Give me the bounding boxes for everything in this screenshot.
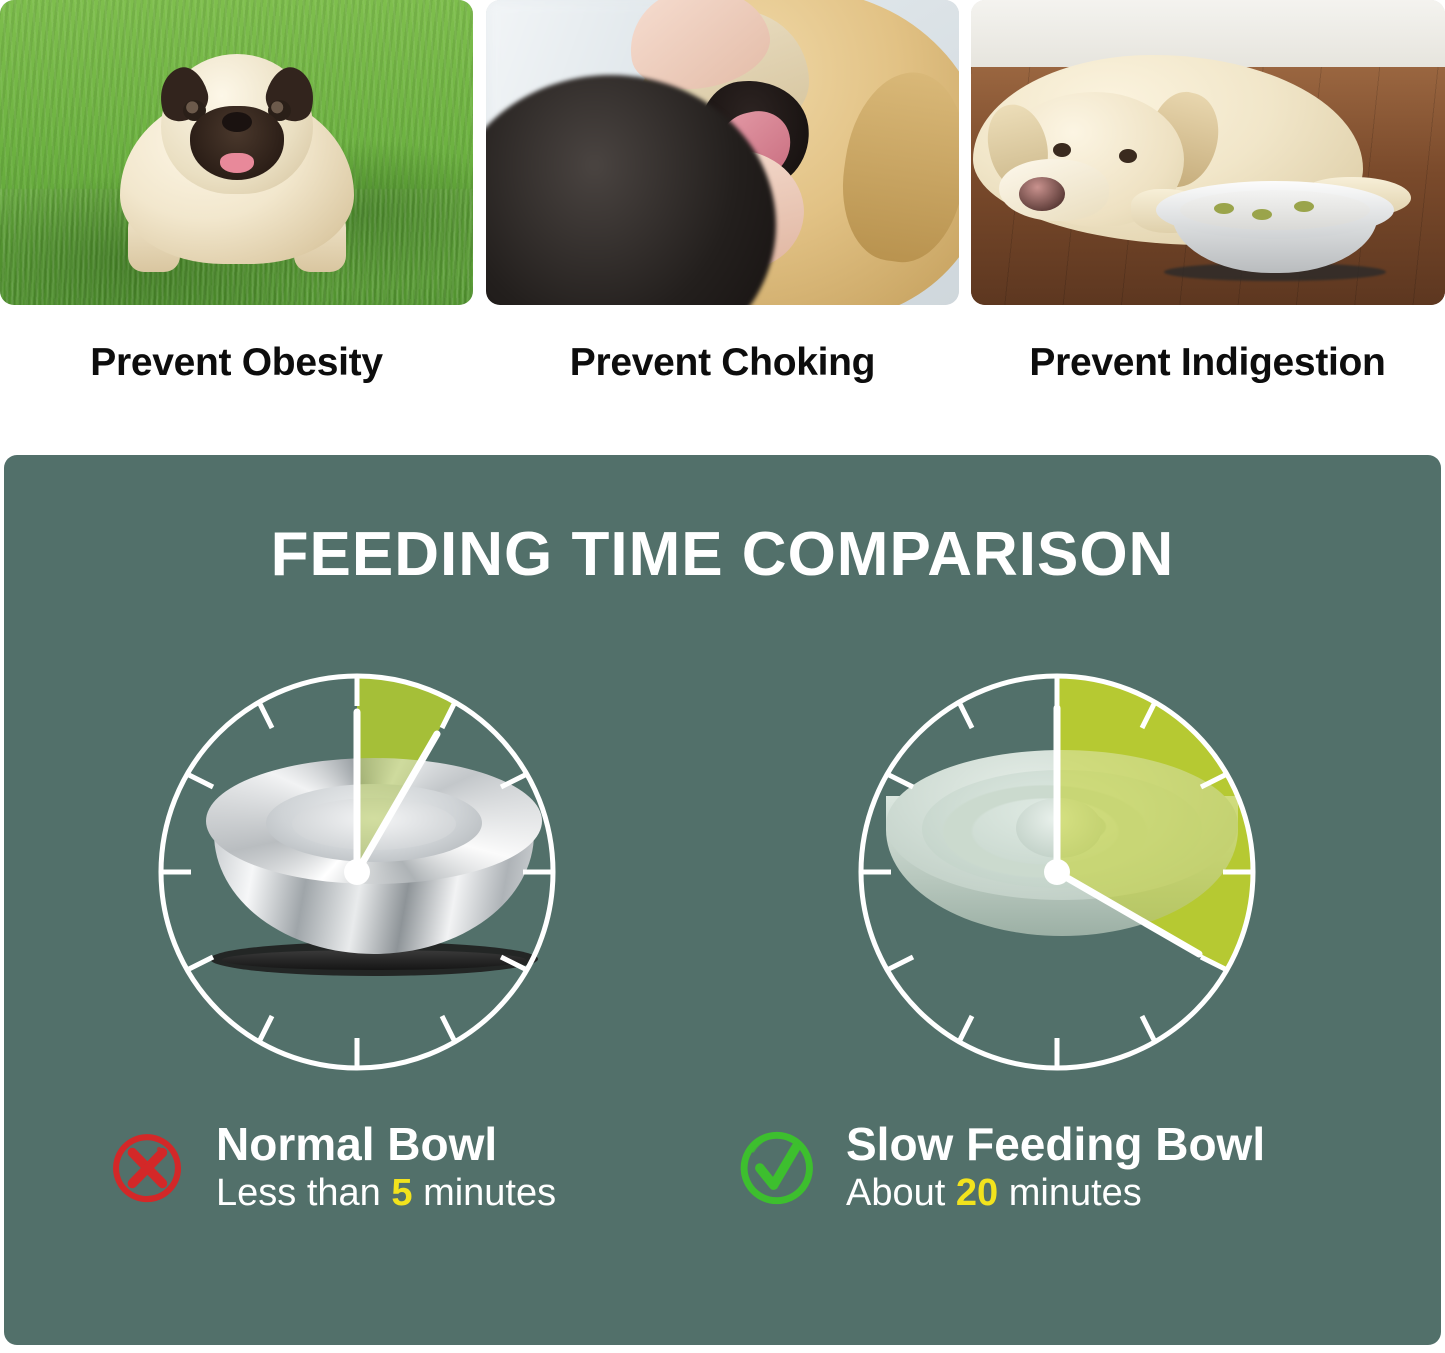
result-normal-bowl: Normal Bowl Less than 5 minutes <box>104 1120 556 1215</box>
result-subtitle: Less than 5 minutes <box>216 1172 556 1216</box>
benefits-strip: Prevent Obesity Prevent Choking <box>0 0 1445 440</box>
benefit-caption: Prevent Indigestion <box>971 341 1444 385</box>
clock-overlay-slow <box>842 650 1282 1100</box>
clock-overlay-normal <box>154 650 594 1100</box>
benefit-photo-prevent-choking <box>486 0 959 305</box>
comparison-results: Normal Bowl Less than 5 minutes Slow Fee… <box>4 1120 1441 1320</box>
result-sub-prefix: About <box>846 1172 945 1214</box>
result-sub-suffix: minutes <box>423 1172 556 1214</box>
x-mark-icon <box>104 1125 190 1211</box>
clock-center-hub <box>344 859 370 885</box>
result-sub-value: 20 <box>956 1172 998 1214</box>
pug-illustration <box>112 44 362 274</box>
clock-center-hub <box>1044 859 1070 885</box>
page-title: FEEDING TIME COMPARISON <box>4 455 1441 590</box>
result-slow-feeding-bowl: Slow Feeding Bowl About 20 minutes <box>734 1120 1265 1215</box>
result-sub-suffix: minutes <box>1009 1172 1142 1214</box>
benefit-photo-prevent-obesity <box>0 0 473 305</box>
clock-slow-feeding-bowl <box>842 650 1282 1100</box>
clock-comparison-row <box>4 650 1441 1100</box>
benefit-caption: Prevent Choking <box>486 341 959 385</box>
result-sub-value: 5 <box>391 1172 412 1214</box>
benefit-photo-prevent-indigestion <box>971 0 1445 305</box>
benefit-card-prevent-indigestion: Prevent Indigestion <box>971 0 1444 385</box>
benefit-card-prevent-choking: Prevent Choking <box>486 0 959 385</box>
result-subtitle: About 20 minutes <box>846 1172 1265 1216</box>
benefit-card-prevent-obesity: Prevent Obesity <box>0 0 473 385</box>
clock-normal-bowl <box>154 650 594 1100</box>
feeding-time-comparison-panel: FEEDING TIME COMPARISON <box>4 455 1441 1345</box>
benefit-caption: Prevent Obesity <box>0 341 473 385</box>
check-mark-icon <box>734 1125 820 1211</box>
result-title: Slow Feeding Bowl <box>846 1120 1265 1170</box>
result-title: Normal Bowl <box>216 1120 556 1170</box>
result-sub-prefix: Less than <box>216 1172 381 1214</box>
